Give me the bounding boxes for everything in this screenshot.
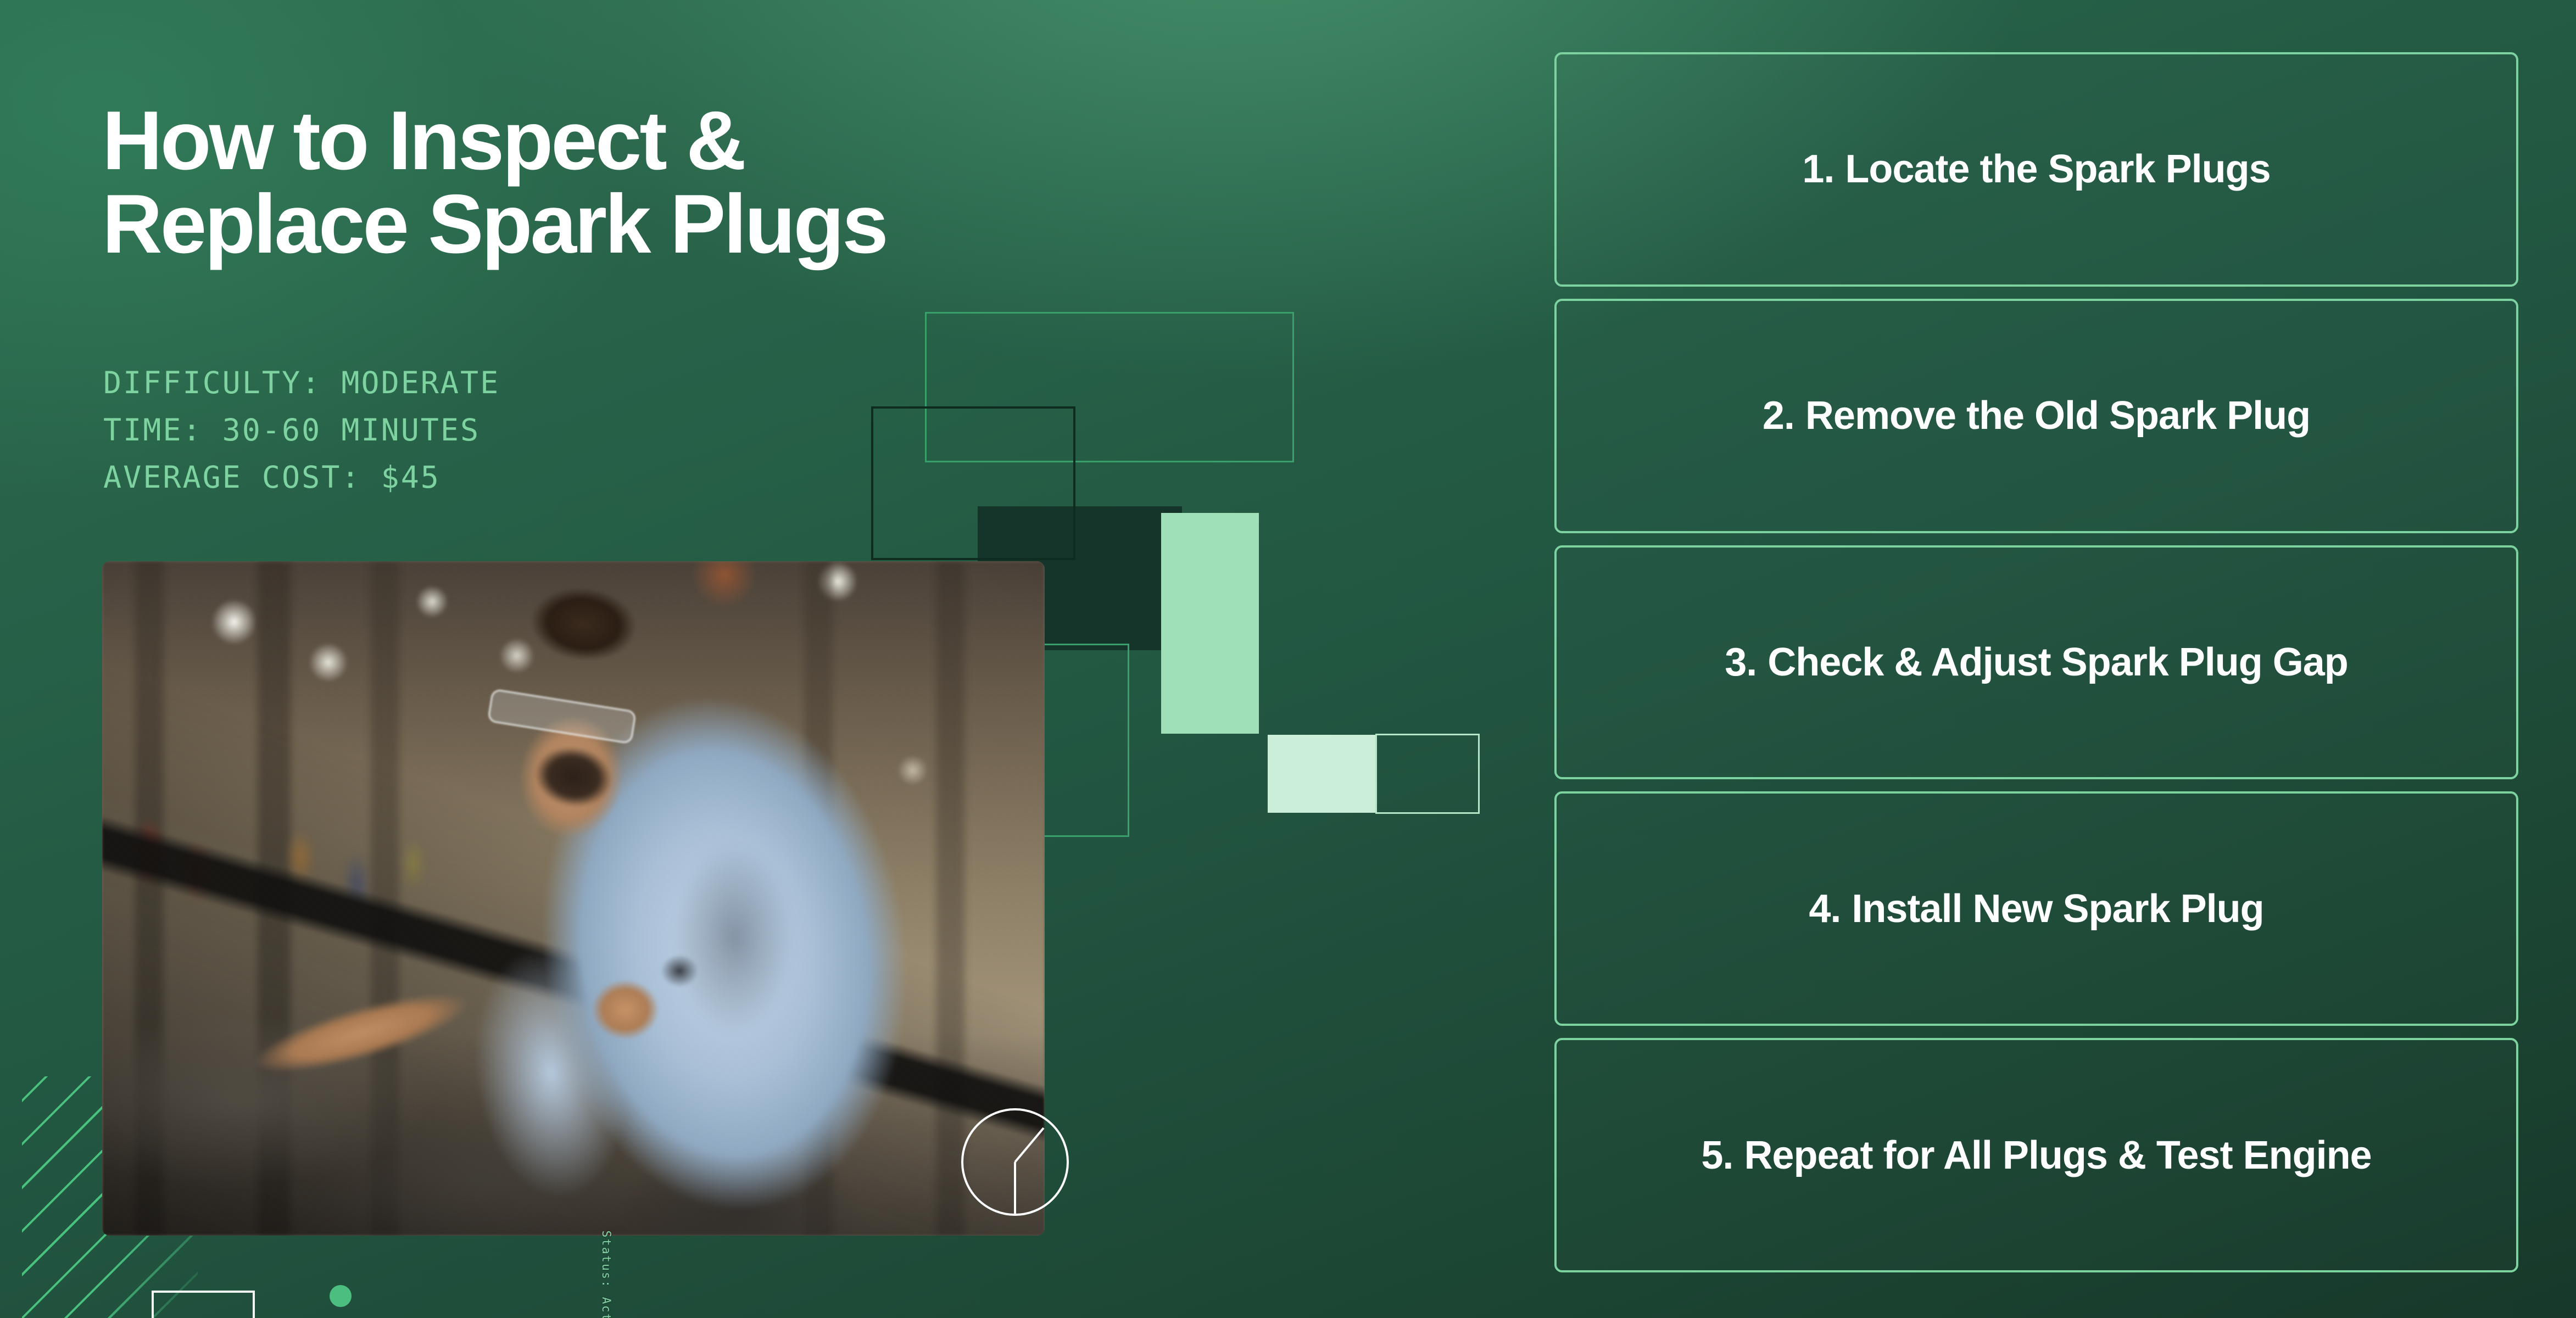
step-text-2: Remove the Old Spark Plug bbox=[1805, 394, 2310, 438]
step-text-5: Repeat for All Plugs & Test Engine bbox=[1744, 1133, 2371, 1177]
step-number-2: 2. bbox=[1763, 394, 1794, 438]
step-label-1: 1.Locate the Spark Plugs bbox=[1802, 147, 2270, 192]
step-text-3: Check & Adjust Spark Plug Gap bbox=[1767, 640, 2348, 684]
step-label-2: 2.Remove the Old Spark Plug bbox=[1763, 393, 2310, 438]
step-number-3: 3. bbox=[1725, 640, 1757, 684]
metadata-time: TIME: 30-60 MINUTES bbox=[103, 407, 500, 454]
steps-list: 1.Locate the Spark Plugs 2.Remove the Ol… bbox=[1554, 52, 2518, 1272]
title-line-1: How to Inspect & bbox=[102, 99, 1124, 182]
step-number-1: 1. bbox=[1802, 147, 1834, 191]
decorative-block-mint-tall bbox=[1161, 513, 1259, 734]
decorative-block-mint-pale bbox=[1268, 735, 1375, 813]
metadata-difficulty: DIFFICULTY: MODERATE bbox=[103, 360, 500, 407]
decorative-outline-square-mint bbox=[1375, 734, 1480, 814]
metadata-cost: AVERAGE COST: $45 bbox=[103, 454, 500, 501]
photo-layer-grain bbox=[102, 561, 1045, 1236]
caption-status: Status: Active bbox=[600, 1231, 613, 1318]
step-text-1: Locate the Spark Plugs bbox=[1845, 147, 2270, 191]
step-card-1[interactable]: 1.Locate the Spark Plugs bbox=[1554, 52, 2518, 287]
decorative-pie-circle-icon bbox=[960, 1107, 1070, 1217]
decorative-outline-square-white bbox=[152, 1291, 255, 1318]
hero-photo-mechanic bbox=[102, 561, 1045, 1236]
decorative-dot-green bbox=[330, 1285, 352, 1307]
decorative-outline-rectangle-dark bbox=[871, 406, 1075, 560]
step-number-4: 4. bbox=[1809, 887, 1841, 931]
step-card-3[interactable]: 3.Check & Adjust Spark Plug Gap bbox=[1554, 545, 2518, 780]
poster-canvas: How to Inspect & Replace Spark Plugs DIF… bbox=[0, 0, 2576, 1318]
decorative-outline-rectangle-green-mid bbox=[1031, 644, 1129, 837]
step-text-4: Install New Spark Plug bbox=[1852, 887, 2263, 931]
step-number-5: 5. bbox=[1701, 1133, 1733, 1177]
page-title: How to Inspect & Replace Spark Plugs bbox=[102, 99, 1124, 266]
step-label-3: 3.Check & Adjust Spark Plug Gap bbox=[1725, 640, 2348, 685]
photo-metadata-caption: Status: Active Assigned: Daniel Vehicle:… bbox=[571, 1197, 642, 1318]
job-metadata: DIFFICULTY: MODERATE TIME: 30-60 MINUTES… bbox=[103, 360, 500, 501]
step-label-5: 5.Repeat for All Plugs & Test Engine bbox=[1701, 1133, 2371, 1178]
step-card-5[interactable]: 5.Repeat for All Plugs & Test Engine bbox=[1554, 1038, 2518, 1272]
step-card-4[interactable]: 4.Install New Spark Plug bbox=[1554, 791, 2518, 1026]
step-card-2[interactable]: 2.Remove the Old Spark Plug bbox=[1554, 299, 2518, 533]
title-line-2: Replace Spark Plugs bbox=[102, 182, 1124, 266]
step-label-4: 4.Install New Spark Plug bbox=[1809, 886, 2263, 931]
